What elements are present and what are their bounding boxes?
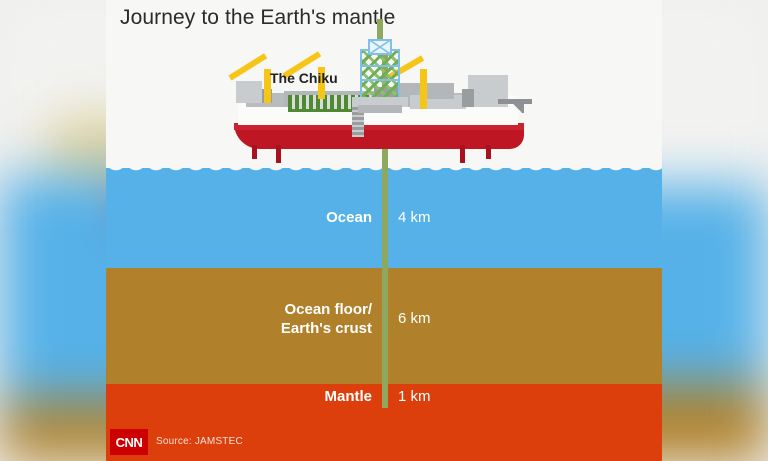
label-ocean-name: Ocean — [186, 209, 372, 226]
ship-thruster-fin — [276, 145, 281, 163]
drill-ship-chiku — [224, 33, 544, 173]
source-attribution: Source: JAMSTEC — [156, 436, 243, 447]
derrick-band — [360, 65, 400, 67]
cnn-logo: CNN — [110, 429, 148, 455]
label-crust-name-line1: Ocean floor/ — [156, 300, 372, 319]
derrick-base-support — [358, 105, 402, 113]
derrick-lattice-frame — [360, 49, 400, 99]
ship-helideck-support — [510, 103, 524, 113]
label-mantle-value: 1 km — [398, 388, 518, 405]
ship-thruster-fin — [252, 145, 257, 159]
ship-thruster-fin — [460, 145, 465, 163]
ship-bow-block — [236, 81, 262, 103]
label-mantle-name: Mantle — [186, 388, 372, 405]
label-crust-name-line2: Earth's crust — [156, 319, 372, 338]
label-crust-name: Ocean floor/ Earth's crust — [156, 300, 372, 338]
derrick-cross-brace-icon — [368, 39, 392, 55]
ship-deck-block — [462, 89, 474, 107]
infographic: Journey to the Earth's mantle — [106, 0, 662, 461]
drilling-derrick — [360, 35, 400, 99]
label-crust-value: 6 km — [398, 310, 518, 327]
ship-name-label: The Chiku — [270, 70, 338, 86]
page-title: Journey to the Earth's mantle — [120, 6, 395, 30]
derrick-band — [360, 79, 400, 81]
ship-thruster-fin — [486, 145, 491, 159]
crane-mast-aft — [420, 69, 427, 109]
crane-boom-forward — [228, 53, 267, 80]
label-ocean-value: 4 km — [398, 209, 518, 226]
